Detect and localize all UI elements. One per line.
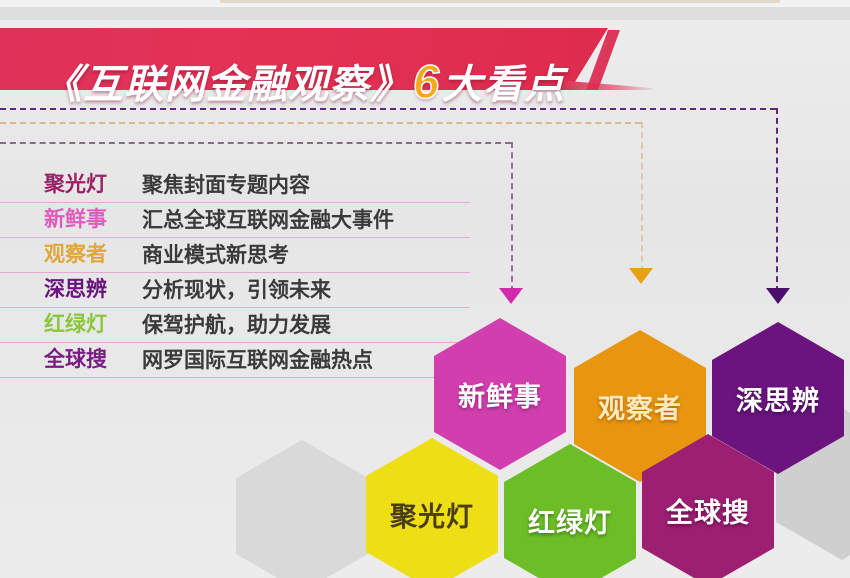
list-item-tag: 聚光灯 <box>44 172 136 198</box>
infographic-canvas: 《互联网金融观察》6大看点 聚光灯 聚焦封面专题内容 新鲜事 汇总全球互联网金融… <box>0 0 850 578</box>
title-banner: 《互联网金融观察》6大看点 <box>0 28 640 90</box>
ghost-hexagon-left <box>236 440 368 578</box>
hexagon-label: 红绿灯 <box>528 501 612 540</box>
list-item[interactable]: 深思辨 分析现状，引领未来 <box>0 273 470 308</box>
list-item-desc: 聚焦封面专题内容 <box>142 172 310 198</box>
list-item[interactable]: 全球搜 网罗国际互联网金融热点 <box>0 343 470 378</box>
list-item[interactable]: 新鲜事 汇总全球互联网金融大事件 <box>0 203 470 238</box>
orange-connector-vertical <box>641 122 643 272</box>
page-title: 《互联网金融观察》6大看点 <box>42 58 565 105</box>
purple-connector-vertical <box>776 108 778 292</box>
list-item[interactable]: 观察者 商业模式新思考 <box>0 238 470 273</box>
list-item-desc: 保驾护航，助力发展 <box>142 312 331 338</box>
orange-connector-arrowhead <box>629 268 653 284</box>
magenta-connector-arrowhead <box>499 288 523 304</box>
magenta-connector-horizontal <box>0 142 511 144</box>
title-left-text: 《互联网金融观察》 <box>42 63 411 107</box>
list-item[interactable]: 红绿灯 保驾护航，助力发展 <box>0 308 470 343</box>
top-edge-accent-strip <box>220 0 780 3</box>
hexagon-label: 全球搜 <box>666 491 750 530</box>
list-item-tag: 红绿灯 <box>44 312 136 338</box>
list-item-desc: 汇总全球互联网金融大事件 <box>142 207 394 233</box>
list-item-desc: 分析现状，引领未来 <box>142 277 331 303</box>
hexagon-label: 观察者 <box>598 387 682 426</box>
purple-connector-horizontal <box>0 108 776 110</box>
purple-connector-arrowhead <box>766 288 790 304</box>
banner-tail-shape <box>556 80 652 90</box>
list-item-tag: 全球搜 <box>44 347 136 373</box>
list-item-tag: 深思辨 <box>44 277 136 303</box>
hexagon-label: 聚光灯 <box>390 495 474 534</box>
title-right-text: 大看点 <box>442 63 565 107</box>
top-edge-shadow-strip <box>0 7 850 20</box>
list-item-desc: 商业模式新思考 <box>142 242 289 268</box>
magenta-connector-vertical <box>511 142 513 292</box>
list-item-desc: 网罗国际互联网金融热点 <box>142 347 373 373</box>
list-item-tag: 新鲜事 <box>44 207 136 233</box>
title-number: 6 <box>411 55 442 108</box>
list-item-rule <box>0 377 470 378</box>
feature-list: 聚光灯 聚焦封面专题内容 新鲜事 汇总全球互联网金融大事件 观察者 商业模式新思… <box>0 168 470 378</box>
hexagon-label: 新鲜事 <box>458 375 542 414</box>
list-item[interactable]: 聚光灯 聚焦封面专题内容 <box>0 168 470 203</box>
orange-connector-horizontal <box>0 122 641 124</box>
hexagon-juguangdeng[interactable]: 聚光灯 <box>366 438 498 578</box>
hexagon-label: 深思辨 <box>736 379 820 418</box>
list-item-tag: 观察者 <box>44 242 136 268</box>
